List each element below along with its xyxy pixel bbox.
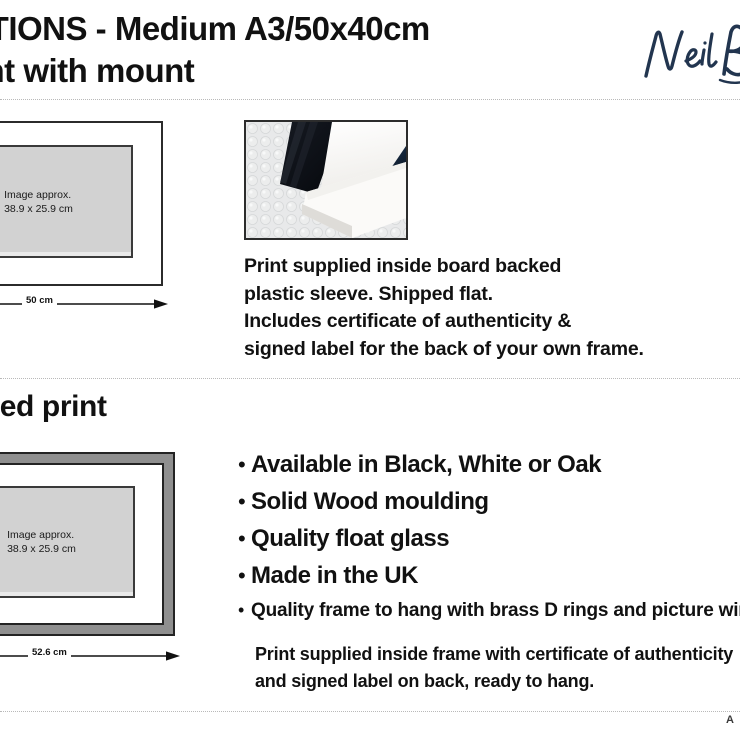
- list-item: • Quality float glass: [238, 524, 740, 553]
- mount-caption-line-2: 38.9 x 25.9 cm: [4, 203, 73, 215]
- page-title: OPTIONS - Medium A3/50x40cm Print with m…: [0, 8, 582, 92]
- unframed-copy-line-2: plastic sleeve. Shipped flat.: [244, 281, 644, 309]
- mount-image-window: Image approx. 38.9 x 25.9 cm: [0, 145, 133, 258]
- framed-dimension-line: 52.6 cm: [0, 648, 180, 664]
- framed-image-window: Image approx. 38.9 x 25.9 cm: [0, 486, 135, 598]
- framed-diagram: Image approx. 38.9 x 25.9 cm: [0, 452, 175, 636]
- framed-description: Print supplied inside frame with certifi…: [255, 641, 733, 694]
- list-item: • Made in the UK: [238, 561, 740, 590]
- page-title-line-1: OPTIONS - Medium A3/50x40cm: [0, 8, 582, 50]
- mount-image-caption: Image approx. 38.9 x 25.9 cm: [4, 188, 73, 216]
- framed-feature-list: • Available in Black, White or Oak • Sol…: [238, 450, 740, 632]
- bullet-icon: •: [238, 528, 251, 550]
- packaging-photo: [244, 120, 408, 240]
- feature-text: Solid Wood moulding: [251, 487, 489, 516]
- mount-diagram: Image approx. 38.9 x 25.9 cm: [0, 121, 163, 286]
- footer-corner-mark: A: [726, 714, 734, 726]
- section-divider-bottom: [0, 711, 740, 712]
- mount-caption-line-1: Image approx.: [4, 189, 71, 201]
- framed-copy-line-2: and signed label on back, ready to hang.: [255, 668, 733, 695]
- unframed-copy-line-3: Includes certificate of authenticity &: [244, 308, 644, 336]
- section-divider-middle: [0, 378, 740, 379]
- list-item: • Available in Black, White or Oak: [238, 450, 740, 479]
- mount-dimension-line: 50 cm: [0, 296, 168, 312]
- bullet-icon: •: [238, 491, 251, 513]
- feature-text: Quality float glass: [251, 524, 449, 553]
- feature-text: Made in the UK: [251, 561, 418, 590]
- framed-caption-line-1: Image approx.: [7, 529, 74, 541]
- list-item: • Solid Wood moulding: [238, 487, 740, 516]
- framed-dimension-label: 52.6 cm: [28, 647, 71, 658]
- feature-text: Available in Black, White or Oak: [251, 450, 601, 479]
- brand-signature-logo: N: [634, 14, 740, 92]
- list-item: • Quality frame to hang with brass D rin…: [238, 598, 740, 624]
- section-divider-top: [0, 99, 740, 100]
- bullet-icon: •: [238, 601, 251, 619]
- unframed-copy-line-4: signed label for the back of your own fr…: [244, 336, 644, 364]
- framed-caption-line-2: 38.9 x 25.9 cm: [7, 543, 76, 555]
- mount-dimension-label: 50 cm: [22, 295, 57, 306]
- unframed-copy-line-1: Print supplied inside board backed: [244, 253, 644, 281]
- bullet-icon: •: [238, 565, 251, 587]
- framed-copy-line-1: Print supplied inside frame with certifi…: [255, 641, 733, 668]
- framed-section-heading: Framed print: [0, 390, 107, 424]
- framed-mount-area: Image approx. 38.9 x 25.9 cm: [0, 463, 164, 625]
- framed-image-caption: Image approx. 38.9 x 25.9 cm: [7, 528, 76, 556]
- page-title-line-2: Print with mount: [0, 50, 582, 92]
- feature-text: Quality frame to hang with brass D rings…: [251, 598, 740, 624]
- bullet-icon: •: [238, 454, 251, 476]
- unframed-description: Print supplied inside board backed plast…: [244, 253, 644, 363]
